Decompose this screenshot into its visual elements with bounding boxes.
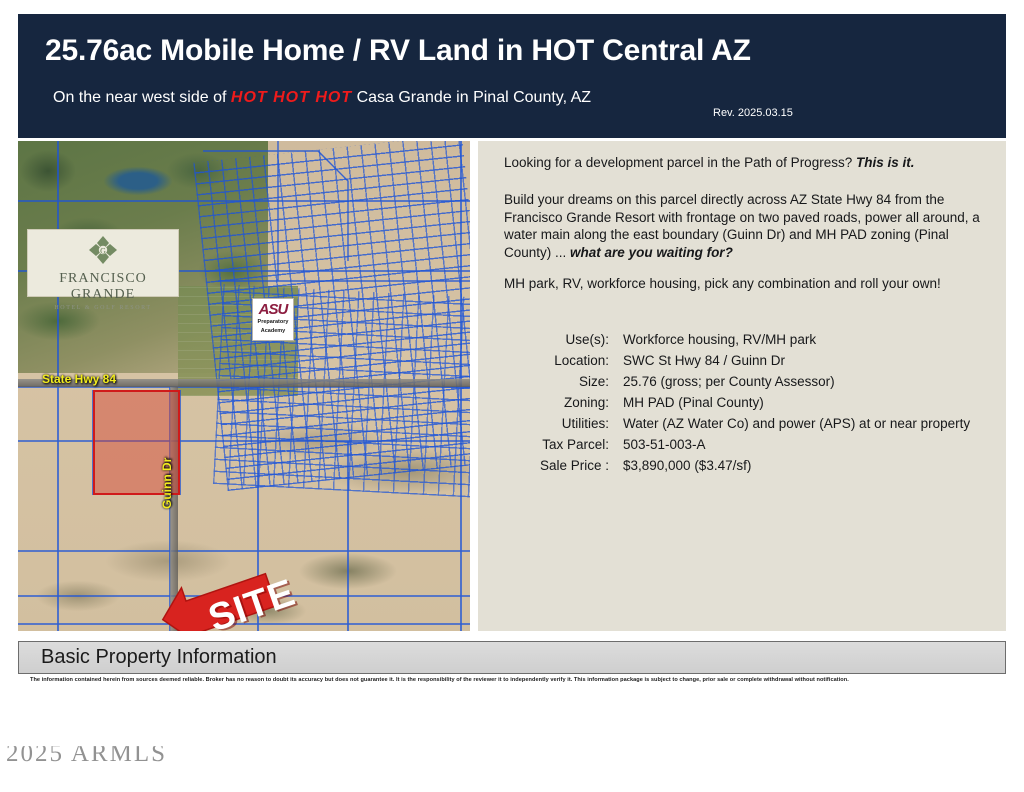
francisco-grande-name: FRANCISCO GRANDE: [28, 271, 178, 303]
asu-logo-text: ASU: [253, 302, 293, 317]
page-title: 25.76ac Mobile Home / RV Land in HOT Cen…: [45, 34, 751, 68]
guinn-drive-label: Guinn Dr: [160, 458, 174, 509]
aerial-map[interactable]: State Hwy 84 Guinn Dr SITE G FRANCISCO G…: [18, 141, 470, 631]
table-row: Utilities: Water (AZ Water Co) and power…: [504, 413, 994, 434]
spec-label-size: Size:: [504, 371, 623, 392]
francisco-grande-tagline: HOTEL & GOLF RESORT: [28, 305, 178, 311]
spec-label-sale-price: Sale Price :: [504, 455, 623, 476]
hot-emphasis: HOT HOT HOT: [231, 89, 352, 106]
property-description-panel: Looking for a development parcel in the …: [478, 141, 1006, 631]
table-row: Zoning: MH PAD (Pinal County): [504, 392, 994, 413]
asu-line2: Academy: [253, 328, 293, 335]
section-title: Basic Property Information: [41, 646, 277, 669]
svg-text:G: G: [100, 247, 106, 256]
intro-text: Looking for a development parcel in the …: [504, 155, 852, 170]
subtitle-prefix: On the near west side of: [53, 89, 226, 106]
highway-label: State Hwy 84: [42, 372, 116, 386]
spec-value-uses: Workforce housing, RV/MH park: [623, 329, 994, 350]
francisco-grande-logo: G FRANCISCO GRANDE HOTEL & GOLF RESORT: [27, 229, 179, 297]
spec-value-tax-parcel: 503-51-003-A: [623, 434, 994, 455]
description-emphasis: what are you waiting for?: [570, 245, 733, 260]
spec-value-zoning: MH PAD (Pinal County): [623, 392, 994, 413]
description-paragraph: Build your dreams on this parcel directl…: [504, 191, 984, 261]
table-row: Size: 25.76 (gross; per County Assessor): [504, 371, 994, 392]
revision-date: Rev. 2025.03.15: [713, 107, 793, 119]
uses-paragraph: MH park, RV, workforce housing, pick any…: [504, 275, 984, 293]
disclaimer-text: The information contained herein from so…: [30, 677, 1008, 683]
armls-watermark: 2025 ARMLS: [6, 740, 167, 768]
intro-paragraph: Looking for a development parcel in the …: [504, 154, 982, 172]
asu-preparatory-academy-marker: ASU Preparatory Academy: [252, 298, 294, 341]
table-row: Tax Parcel: 503-51-003-A: [504, 434, 994, 455]
subtitle-suffix: Casa Grande in Pinal County, AZ: [357, 89, 592, 106]
diamond-ornament-icon: G: [88, 235, 118, 265]
spec-value-location: SWC St Hwy 84 / Guinn Dr: [623, 350, 994, 371]
spec-label-tax-parcel: Tax Parcel:: [504, 434, 623, 455]
basic-property-information-bar: Basic Property Information: [18, 641, 1006, 674]
spec-value-utilities: Water (AZ Water Co) and power (APS) at o…: [623, 413, 994, 434]
property-specs-table: Use(s): Workforce housing, RV/MH park Lo…: [504, 329, 994, 476]
spec-label-zoning: Zoning:: [504, 392, 623, 413]
table-row: Use(s): Workforce housing, RV/MH park: [504, 329, 994, 350]
spec-label-utilities: Utilities:: [504, 413, 623, 434]
table-row: Sale Price : $3,890,000 ($3.47/sf): [504, 455, 994, 476]
header-subtitle: On the near west side of HOT HOT HOT Cas…: [53, 89, 591, 107]
spec-label-uses: Use(s):: [504, 329, 623, 350]
asu-line1: Preparatory: [253, 319, 293, 326]
document-header: 25.76ac Mobile Home / RV Land in HOT Cen…: [18, 14, 1006, 138]
spec-value-size: 25.76 (gross; per County Assessor): [623, 371, 994, 392]
spec-label-location: Location:: [504, 350, 623, 371]
intro-emphasis: This is it.: [856, 155, 915, 170]
table-row: Location: SWC St Hwy 84 / Guinn Dr: [504, 350, 994, 371]
spec-value-sale-price: $3,890,000 ($3.47/sf): [623, 455, 994, 476]
